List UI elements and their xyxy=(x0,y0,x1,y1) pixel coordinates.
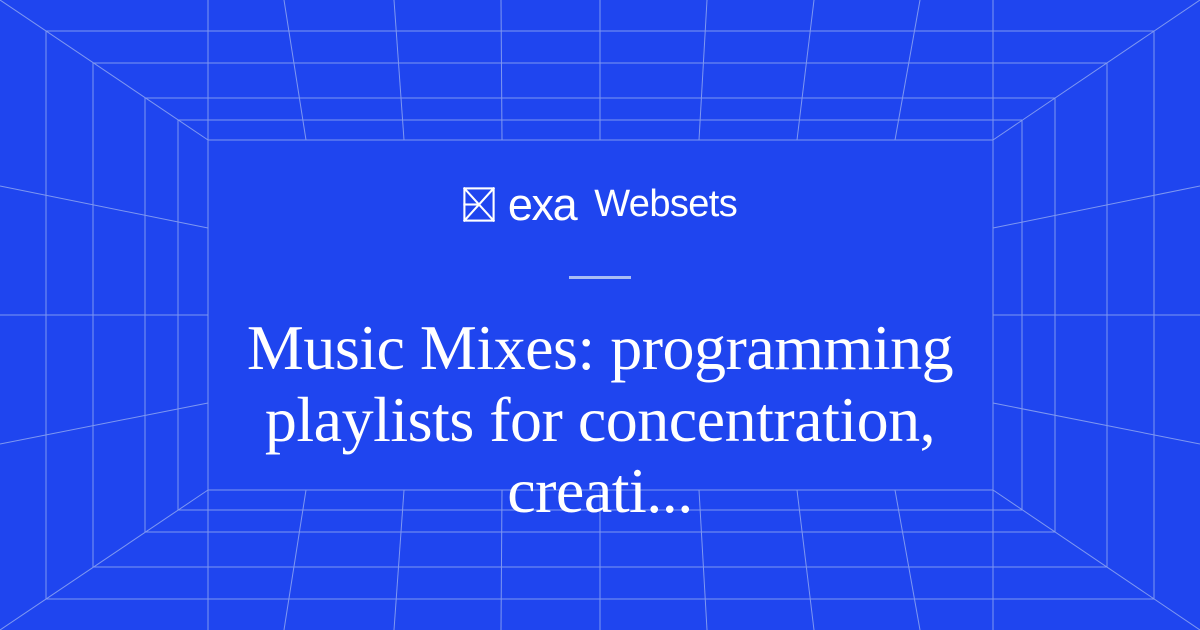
brand-lockup: exa Websets xyxy=(463,180,737,228)
exa-logo-icon xyxy=(463,187,495,222)
card-content: exa Websets Music Mixes: programming pla… xyxy=(0,0,1200,630)
brand-product-name: Websets xyxy=(594,185,737,223)
brand-name: exa xyxy=(508,182,576,227)
og-card: exa Websets Music Mixes: programming pla… xyxy=(0,0,1200,630)
brand-divider xyxy=(569,276,631,279)
page-title: Music Mixes: programming playlists for c… xyxy=(220,312,980,527)
